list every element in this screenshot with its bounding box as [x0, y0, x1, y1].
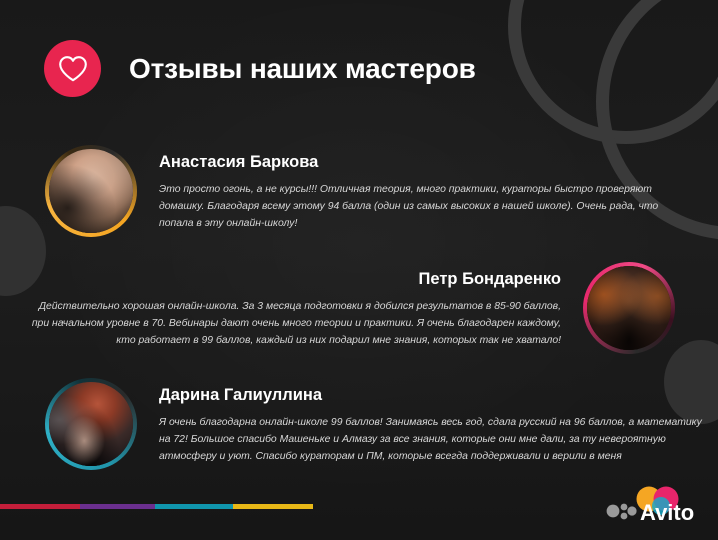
avatar	[45, 145, 137, 237]
accent-bar-segment-1	[80, 504, 155, 509]
accent-bar	[0, 504, 313, 509]
slide-header: Отзывы наших мастеров	[44, 40, 476, 97]
accent-bar-segment-3	[233, 504, 313, 509]
testimonial-card: Дарина Галиуллина Я очень благодарна онл…	[45, 378, 715, 470]
accent-bar-segment-2	[155, 504, 233, 509]
avatar-anastasia-barkova	[49, 149, 133, 233]
accent-bar-segment-0	[0, 504, 80, 509]
avatar	[45, 378, 137, 470]
decorative-ring-top	[508, 0, 718, 144]
heart-icon	[44, 40, 101, 97]
testimonial-text: Я очень благодарна онлайн-школе 99 балло…	[159, 415, 715, 466]
testimonial-author-name: Петр Бондаренко	[419, 270, 561, 289]
testimonial-card: Анастасия Баркова Это просто огонь, а не…	[45, 145, 671, 237]
avito-watermark: Avito	[604, 484, 704, 528]
avatar-darina-galiullina	[49, 382, 133, 466]
testimonial-text: Это просто огонь, а не курсы!!! Отличная…	[159, 182, 671, 233]
testimonial-author-name: Дарина Галиуллина	[159, 386, 322, 405]
svg-text:Avito: Avito	[640, 500, 694, 525]
avatar-petr-bondarenko	[587, 266, 671, 350]
testimonial-text: Действительно хорошая онлайн-школа. За 3…	[25, 299, 561, 350]
testimonial-author-name: Анастасия Баркова	[159, 153, 318, 172]
avatar	[583, 262, 675, 354]
page-title: Отзывы наших мастеров	[129, 53, 476, 85]
testimonial-card: Петр Бондаренко Действительно хорошая он…	[25, 262, 675, 354]
slide-root: Отзывы наших мастеров Анастасия Баркова …	[0, 0, 718, 540]
